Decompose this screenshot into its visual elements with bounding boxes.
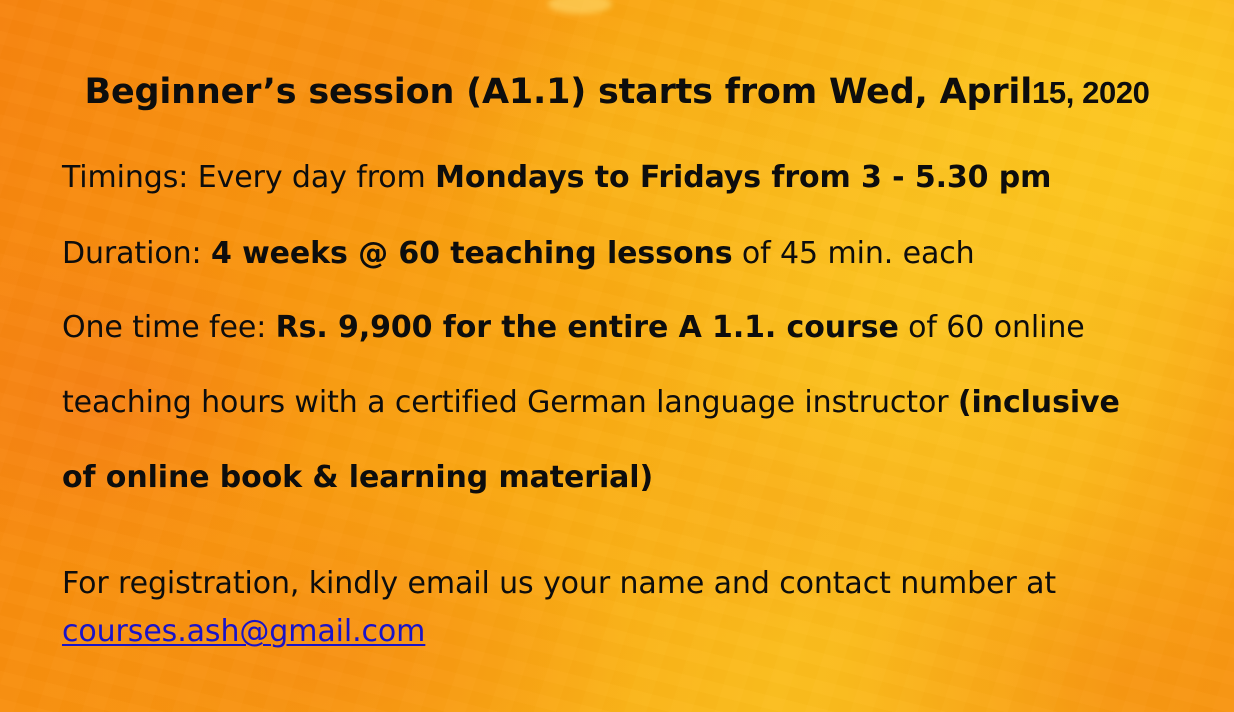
- fee-line2-bold: (inclusive: [958, 385, 1120, 420]
- slide-title: Beginner’s session (A1.1) starts from We…: [0, 72, 1234, 112]
- duration-line: Duration: 4 weeks @ 60 teaching lessons …: [62, 236, 975, 271]
- fee-line: One time fee: Rs. 9,900 for the entire A…: [62, 310, 1085, 345]
- duration-value: 4 weeks @ 60 teaching lessons: [211, 236, 733, 271]
- duration-label: Duration:: [62, 236, 211, 271]
- title-date-text: 15, 2020: [1032, 75, 1149, 110]
- slide-content: Beginner’s session (A1.1) starts from We…: [0, 0, 1234, 712]
- registration-email-line: courses.ash@gmail.com: [62, 614, 425, 649]
- fee-tail: of 60 online: [899, 310, 1085, 345]
- title-main-text: Beginner’s session (A1.1) starts from We…: [84, 72, 1032, 112]
- timings-value: Mondays to Fridays from 3 - 5.30 pm: [435, 160, 1051, 195]
- registration-line: For registration, kindly email us your n…: [62, 566, 1056, 601]
- email-link[interactable]: courses.ash@gmail.com: [62, 614, 425, 649]
- registration-text: For registration, kindly email us your n…: [62, 566, 1056, 601]
- duration-tail: of 45 min. each: [732, 236, 974, 271]
- fee-line-2: teaching hours with a certified German l…: [62, 385, 1120, 420]
- promo-slide: Beginner’s session (A1.1) starts from We…: [0, 0, 1234, 712]
- fee-line-3: of online book & learning material): [62, 460, 653, 495]
- timings-label: Timings: Every day from: [62, 160, 435, 195]
- fee-line3-bold: of online book & learning material): [62, 460, 653, 495]
- fee-line2-normal: teaching hours with a certified German l…: [62, 385, 958, 420]
- timings-line: Timings: Every day from Mondays to Frida…: [62, 160, 1051, 195]
- fee-value: Rs. 9,900 for the entire A 1.1. course: [276, 310, 899, 345]
- fee-label: One time fee:: [62, 310, 276, 345]
